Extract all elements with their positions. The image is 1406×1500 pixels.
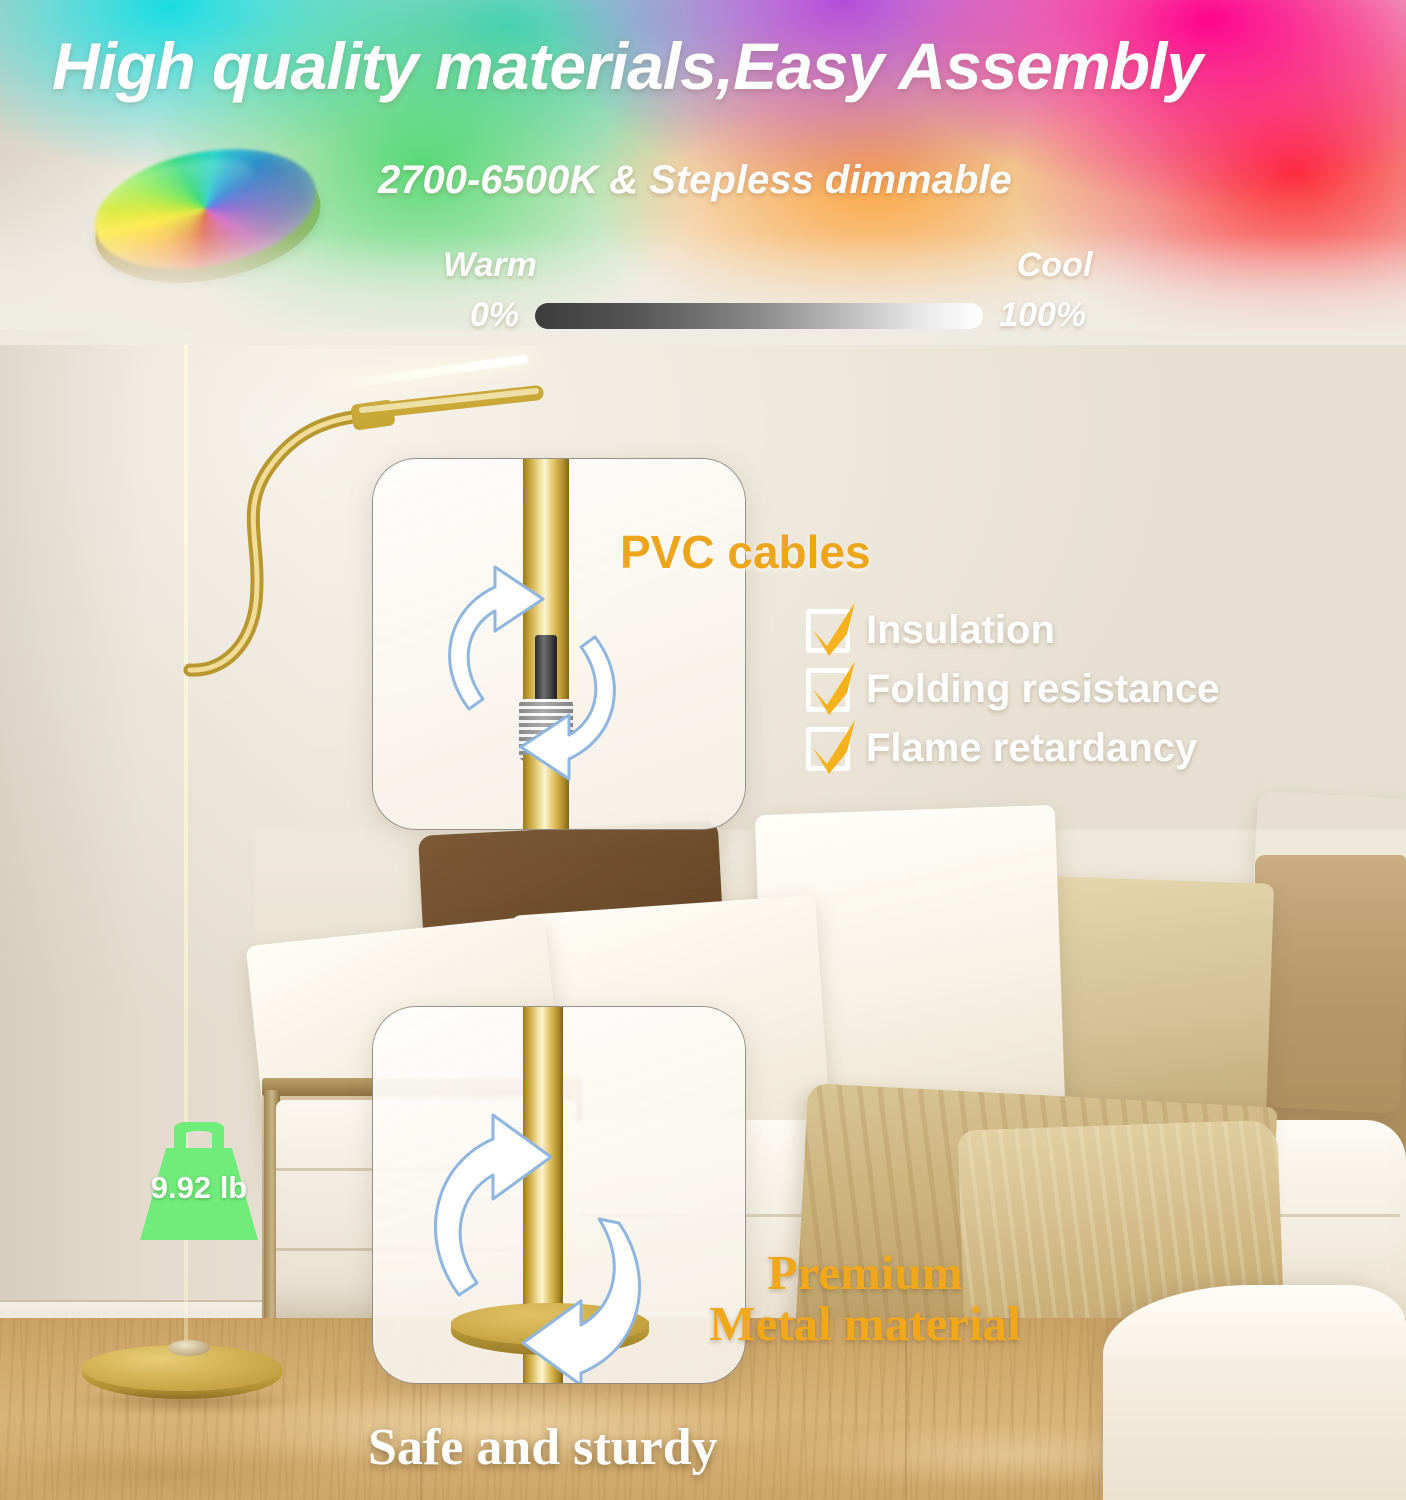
check-icon xyxy=(806,609,850,653)
feature-label: Folding resistance xyxy=(866,667,1219,712)
safe-and-sturdy-caption: Safe and sturdy xyxy=(368,1418,718,1477)
subtitle: 2700-6500K & Stepless dimmable xyxy=(378,158,1012,203)
color-temperature-slider: Warm Cool xyxy=(443,246,1092,285)
metal-material-title-line2: Metal material xyxy=(680,1299,1050,1350)
brightness-slider: 0% 100% xyxy=(470,296,1086,335)
list-item: Folding resistance xyxy=(806,667,1219,712)
pvc-cables-title: PVC cables xyxy=(620,525,871,579)
lamp-base-ferrule xyxy=(168,1340,210,1356)
feature-checklist: Insulation Folding resistance Flame reta… xyxy=(806,608,1219,785)
slider-label-warm: Warm xyxy=(443,246,537,285)
slider-label-cool: Cool xyxy=(1017,246,1093,285)
rotation-arrows-icon xyxy=(373,459,745,829)
slider-label-min: 0% xyxy=(470,296,519,335)
page-title: High quality materials,Easy Assembly xyxy=(52,28,1382,104)
color-temperature-slider-track[interactable] xyxy=(553,253,1001,279)
slider-label-max: 100% xyxy=(999,296,1086,335)
pvc-cable-zoom-card xyxy=(372,458,746,830)
list-item: Flame retardancy xyxy=(806,726,1219,771)
throw-pillow-tan xyxy=(1041,876,1274,1124)
metal-material-title: Premium Metal material xyxy=(680,1248,1050,1350)
metal-material-title-line1: Premium xyxy=(680,1248,1050,1299)
list-item: Insulation xyxy=(806,608,1219,653)
weight-badge-label: 9.92 lb xyxy=(126,1170,272,1206)
brightness-slider-track[interactable] xyxy=(535,303,983,329)
check-icon xyxy=(806,668,850,712)
product-marketing-image: 9.92 lb High quality materials,Easy Asse… xyxy=(0,0,1406,1500)
feature-label: Insulation xyxy=(866,608,1055,653)
check-icon xyxy=(806,727,850,771)
feature-label: Flame retardancy xyxy=(866,726,1197,771)
weight-badge: 9.92 lb xyxy=(126,1122,272,1248)
